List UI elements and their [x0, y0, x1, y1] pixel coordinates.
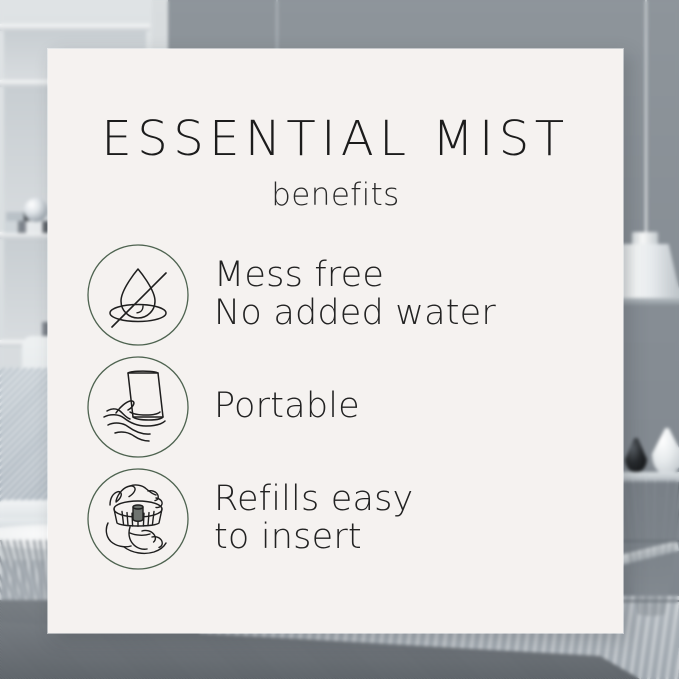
- list-item-label: Refills easy to insert: [214, 481, 413, 557]
- hands-inserting-refill-icon: [86, 467, 190, 571]
- list-item-label: Portable: [214, 388, 360, 426]
- list-item: Mess free No added water: [86, 243, 623, 347]
- benefits-list: Mess free No added water: [48, 243, 623, 571]
- list-item: Portable: [86, 355, 623, 459]
- hand-holding-diffuser-icon: [86, 355, 190, 459]
- list-item-label: Mess free No added water: [214, 257, 496, 333]
- page-subtitle: benefits: [48, 177, 623, 213]
- page-title: ESSENTIAL MIST: [48, 111, 623, 167]
- product-benefits-image: ESSENTIAL MIST benefits Mess free No add…: [0, 0, 679, 679]
- list-item: Refills easy to insert: [86, 467, 623, 571]
- water-drop-no-water-icon: [86, 243, 190, 347]
- benefits-card: ESSENTIAL MIST benefits Mess free No add…: [48, 49, 623, 633]
